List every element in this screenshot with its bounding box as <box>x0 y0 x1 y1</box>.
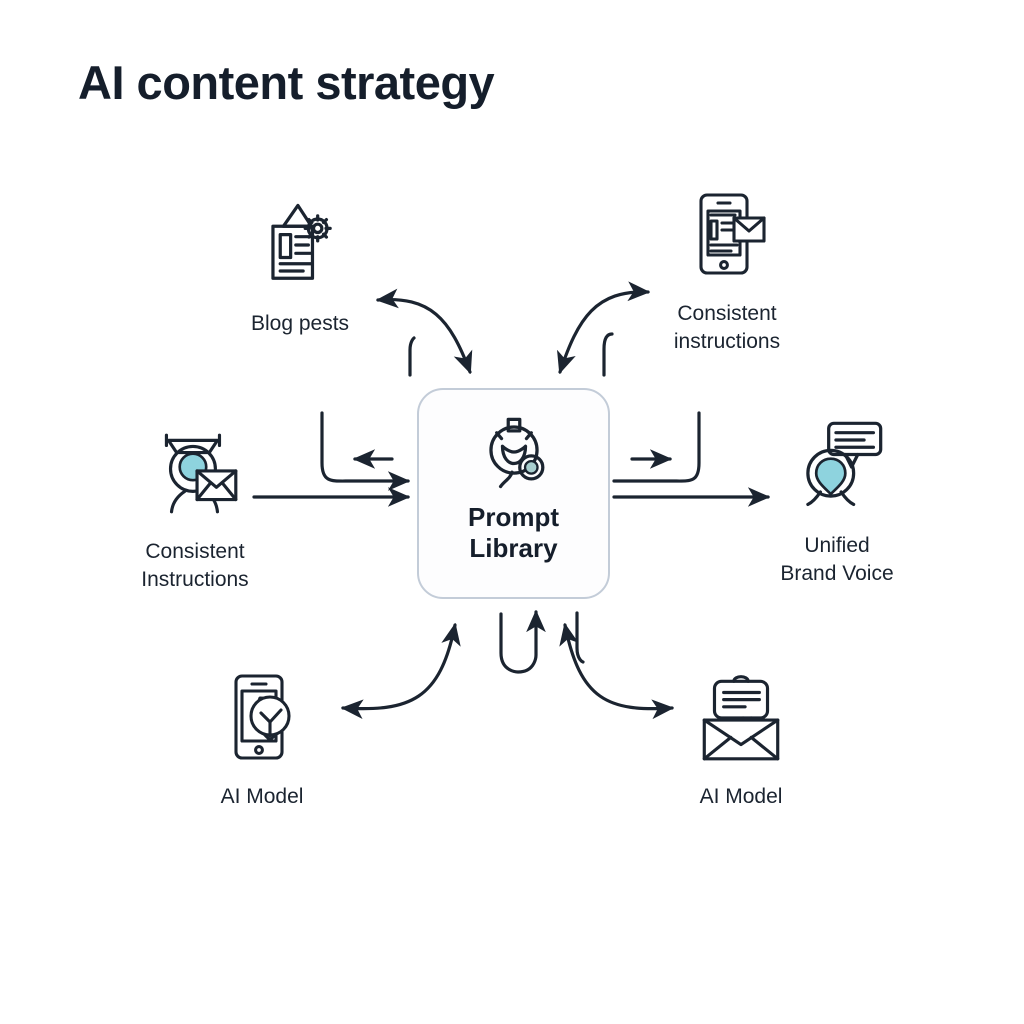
ai-robot-icon <box>466 404 562 500</box>
connector-hook-bottom-right <box>577 613 583 662</box>
connector-elbow-right-in <box>614 413 699 481</box>
document-gear-icon <box>245 190 355 300</box>
hub-node-prompt-library[interactable]: Prompt Library <box>417 388 610 599</box>
connector-hub-self-loop-bottom <box>501 612 536 672</box>
node-label: Consistent instructions <box>674 300 780 356</box>
node-label: AI Model <box>221 783 304 811</box>
node-label: Consistent Instructions <box>141 538 248 594</box>
connector-hook-top-right <box>604 334 612 375</box>
node-ai-model-right[interactable]: AI Model <box>641 663 841 811</box>
connector-elbow-left-in <box>322 413 408 481</box>
node-blog-posts[interactable]: Blog pests <box>200 190 400 338</box>
node-label: Unified Brand Voice <box>780 532 893 588</box>
phone-check-icon <box>207 663 317 773</box>
hub-label: Prompt Library <box>468 502 559 564</box>
node-consistent-instructions-top[interactable]: Consistent instructions <box>627 180 827 356</box>
node-label: Blog pests <box>251 310 349 338</box>
tablet-envelope-icon <box>672 180 782 290</box>
node-unified-brand-voice[interactable]: Unified Brand Voice <box>737 412 937 588</box>
avatar-envelope-icon <box>140 418 250 528</box>
node-ai-model-left[interactable]: AI Model <box>162 663 362 811</box>
node-consistent-instructions-left[interactable]: Consistent Instructions <box>95 418 295 594</box>
speech-bubble-avatar-icon <box>782 412 892 522</box>
envelope-message-icon <box>686 663 796 773</box>
diagram-canvas: AI content strategy <box>0 0 1024 1024</box>
node-label: AI Model <box>700 783 783 811</box>
connector-hook-top-left <box>410 338 414 375</box>
